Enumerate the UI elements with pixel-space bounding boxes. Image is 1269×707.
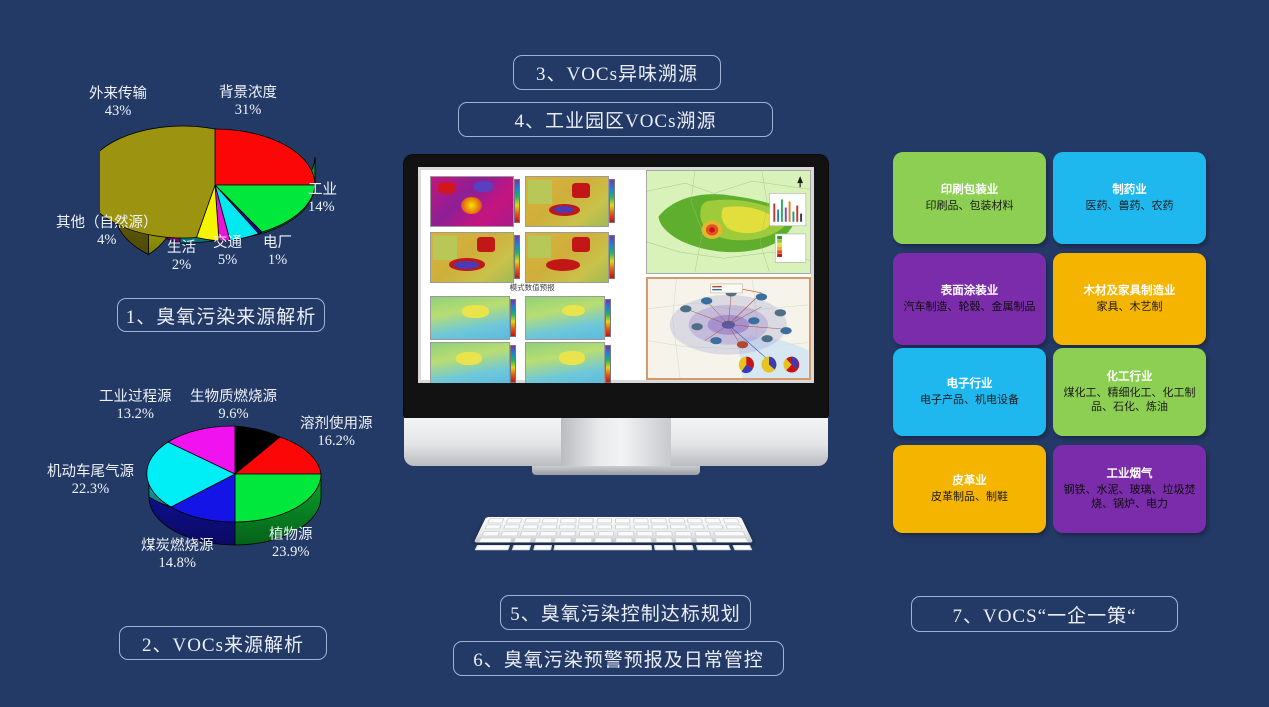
- industry-card-title: 印刷包装业: [941, 183, 999, 197]
- caption-ozone-warning-forecast[interactable]: 6、臭氧污染预警预报及日常管控: [453, 641, 784, 676]
- pollution-source-tracing-map: [646, 277, 811, 381]
- pie1-label-industry: 工业14%: [308, 182, 337, 215]
- screen-title-model-forecast: 模式数值预报: [421, 282, 643, 293]
- caption-ozone-source-analysis[interactable]: 1、臭氧污染来源解析: [117, 298, 325, 332]
- industry-card-printing-packaging[interactable]: 印刷包装业 印刷品、包装材料: [893, 152, 1046, 244]
- industry-card-electronics[interactable]: 电子行业 电子产品、机电设备: [893, 348, 1046, 436]
- pie1-label-living: 生活2%: [167, 240, 196, 273]
- vocs-source-pie-chart: 生物质燃烧源9.6% 溶剂使用源16.2% 植物源23.9% 煤炭燃烧源14.8…: [135, 412, 335, 547]
- model-forecast-panel: 模式数值预报: [421, 170, 643, 380]
- monitor-screen[interactable]: 模式数值预报: [418, 167, 814, 383]
- monitor-stand-neck: [561, 418, 671, 470]
- industry-card-desc: 电子产品、机电设备: [920, 393, 1019, 407]
- pie2-label-solvent: 溶剂使用源16.2%: [300, 416, 373, 449]
- right-panels: [646, 170, 811, 380]
- met-map-4: [525, 342, 605, 383]
- met-map-2: [525, 296, 605, 340]
- regional-concentration-map: [646, 170, 811, 274]
- met-map-3: [430, 342, 510, 383]
- slide-canvas: 背景浓度31% 工业14% 电厂1% 交通5% 生活2% 其他（自然源）4% 外…: [0, 0, 1269, 707]
- pie1-label-background: 背景浓度31%: [219, 85, 277, 118]
- industry-card-surface-coating[interactable]: 表面涂装业 汽车制造、轮毂、金属制品: [893, 253, 1046, 345]
- pie2-label-vegetation: 植物源23.9%: [269, 527, 313, 560]
- pie1-label-transport: 外来传输43%: [89, 86, 147, 119]
- pie2-label-vehicle: 机动车尾气源22.3%: [47, 464, 134, 497]
- forecast-map-1: [430, 176, 514, 227]
- caption-ozone-control-plan[interactable]: 5、臭氧污染控制达标规划: [500, 595, 751, 630]
- desktop-computer: 模式数值预报: [404, 155, 828, 565]
- pie2-label-industrial-process: 工业过程源13.2%: [99, 389, 172, 422]
- caption-vocs-odor-tracing[interactable]: 3、VOCs异味溯源: [513, 55, 721, 90]
- industry-card-leather[interactable]: 皮革业 皮革制品、制鞋: [893, 445, 1046, 533]
- monitor-bezel: 模式数值预报: [404, 155, 828, 418]
- industry-card-desc: 煤化工、精细化工、化工制品、石化、炼油: [1061, 386, 1198, 415]
- industry-card-title: 制药业: [1112, 183, 1147, 197]
- pie1-label-powerplant: 电厂1%: [263, 235, 292, 268]
- caption-vocs-source-analysis[interactable]: 2、VOCs来源解析: [119, 626, 327, 660]
- industry-card-desc: 钢铁、水泥、玻璃、垃圾焚烧、锅炉、电力: [1061, 483, 1198, 512]
- industry-card-title: 表面涂装业: [941, 284, 999, 298]
- caption-industrial-park-vocs-tracing[interactable]: 4、工业园区VOCs溯源: [458, 102, 773, 137]
- pie1-slice-background: [215, 129, 315, 185]
- industry-card-chemical[interactable]: 化工行业 煤化工、精细化工、化工制品、石化、炼油: [1053, 348, 1206, 436]
- industry-card-title: 化工行业: [1107, 370, 1153, 384]
- industry-card-title: 工业烟气: [1107, 467, 1153, 481]
- forecast-map-4: [525, 232, 609, 283]
- industry-card-desc: 家具、木艺制: [1097, 300, 1163, 314]
- forecast-map-3: [430, 232, 514, 283]
- monitor-stand-foot: [532, 466, 700, 475]
- industry-card-desc: 皮革制品、制鞋: [931, 490, 1008, 504]
- industry-card-industrial-flue-gas[interactable]: 工业烟气 钢铁、水泥、玻璃、垃圾焚烧、锅炉、电力: [1053, 445, 1206, 533]
- industry-card-desc: 医药、兽药、农药: [1086, 199, 1174, 213]
- industry-card-title: 皮革业: [952, 474, 987, 488]
- industry-card-desc: 汽车制造、轮毂、金属制品: [904, 300, 1036, 314]
- pie1-label-other-natural: 其他（自然源）4%: [56, 215, 158, 248]
- pie2-label-biomass: 生物质燃烧源9.6%: [190, 389, 277, 422]
- met-map-1: [430, 296, 510, 340]
- industry-card-title: 电子行业: [947, 377, 993, 391]
- keyboard[interactable]: [474, 517, 754, 543]
- industry-card-desc: 印刷品、包装材料: [926, 199, 1014, 213]
- caption-vocs-one-enterprise-one-policy[interactable]: 7、VOCS“一企一策“: [911, 596, 1178, 632]
- ozone-source-pie-chart: 背景浓度31% 工业14% 电厂1% 交通5% 生活2% 其他（自然源）4% 外…: [100, 110, 330, 270]
- forecast-map-2: [525, 176, 609, 227]
- industry-card-title: 木材及家具制造业: [1084, 284, 1176, 298]
- industry-card-wood-furniture[interactable]: 木材及家具制造业 家具、木艺制: [1053, 253, 1206, 345]
- industry-card-pharmaceutical[interactable]: 制药业 医药、兽药、农药: [1053, 152, 1206, 244]
- pie2-label-coal: 煤炭燃烧源14.8%: [141, 538, 214, 571]
- pie1-label-traffic: 交通5%: [213, 235, 242, 268]
